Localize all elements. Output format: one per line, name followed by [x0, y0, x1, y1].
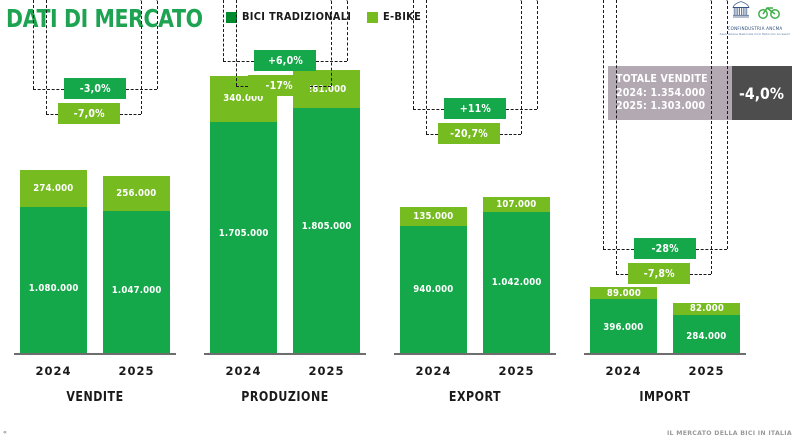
bar-import-2024[interactable]: 89.000396.000: [590, 287, 657, 353]
bar-value-ebike: 256.000: [116, 188, 156, 199]
connector-ebike-left-leg: [236, 0, 237, 86]
bar-value-ebike: 135.000: [413, 211, 453, 222]
category-label-vendite: VENDITE: [14, 390, 176, 405]
bar-segment-traditional[interactable]: 940.000: [400, 226, 467, 353]
year-label-2024: 2024: [590, 364, 657, 378]
delta-badge-ebike: -20,7%: [438, 123, 500, 144]
bar-value-traditional: 396.000: [603, 322, 643, 333]
connector-ebike-right-h: [500, 134, 521, 135]
footer-mark: «: [3, 429, 7, 436]
chart-group-export: 20242025135.000940.000107.0001.042.000+1…: [380, 0, 570, 410]
axis-baseline: [14, 353, 176, 355]
connector-total-left-leg: [413, 0, 414, 109]
bar-segment-traditional[interactable]: 1.047.000: [103, 211, 170, 353]
bar-vendite-2024[interactable]: 274.0001.080.000: [20, 170, 87, 353]
bar-produzione-2024[interactable]: 340.0001.705.000: [210, 76, 277, 353]
axis-baseline: [584, 353, 746, 355]
year-label-2025: 2025: [103, 364, 170, 378]
bar-segment-traditional[interactable]: 284.000: [673, 315, 740, 353]
connector-ebike-left-leg: [426, 0, 427, 134]
delta-badge-ebike-value: -17%: [265, 80, 292, 92]
year-label-2024: 2024: [210, 364, 277, 378]
connector-ebike-left-leg: [616, 0, 617, 274]
connector-ebike-right-arrow: [518, 0, 524, 1]
year-label-2024: 2024: [20, 364, 87, 378]
plot-area: 135.000940.000107.0001.042.000: [380, 0, 570, 355]
connector-total-left-h: [603, 249, 634, 250]
chart-group-produzione: 20242025340.0001.705.000281.0001.805.000…: [190, 0, 380, 410]
bar-value-traditional: 1.047.000: [112, 285, 162, 296]
bar-segment-ebike[interactable]: 107.000: [483, 197, 550, 211]
connector-total-left-leg: [603, 0, 604, 249]
bar-segment-traditional[interactable]: 1.080.000: [20, 207, 87, 353]
connector-total-right-leg: [537, 1, 538, 109]
connector-ebike-right-h: [310, 86, 331, 87]
connector-total-right-leg: [347, 1, 348, 61]
bar-export-2025[interactable]: 107.0001.042.000: [483, 197, 550, 353]
chart-group-vendite: 20242025274.0001.080.000256.0001.047.000…: [0, 0, 190, 410]
delta-badge-ebike: -7,0%: [58, 103, 120, 124]
bar-value-traditional: 284.000: [686, 331, 726, 342]
delta-badge-ebike: -17%: [248, 75, 310, 96]
connector-ebike-left-h: [46, 114, 58, 115]
connector-total-right-arrow: [534, 0, 540, 1]
year-label-2024: 2024: [400, 364, 467, 378]
bar-segment-traditional[interactable]: 1.805.000: [293, 108, 360, 353]
connector-ebike-right-leg: [141, 1, 142, 114]
bar-value-traditional: 1.080.000: [29, 283, 79, 294]
delta-badge-ebike-value: -7,8%: [643, 268, 674, 280]
connector-total-left-leg: [223, 0, 224, 61]
bar-value-traditional: 1.705.000: [219, 228, 269, 239]
category-label-produzione: PRODUZIONE: [204, 390, 366, 405]
delta-badge-total: -28%: [634, 238, 696, 259]
delta-badge-total: +11%: [444, 98, 506, 119]
bar-vendite-2025[interactable]: 256.0001.047.000: [103, 176, 170, 353]
bar-value-traditional: 940.000: [413, 284, 453, 295]
connector-total-right-arrow: [154, 0, 160, 1]
delta-badge-total: +6,0%: [254, 50, 316, 71]
connector-ebike-left-leg: [46, 0, 47, 114]
bar-value-ebike: 274.000: [33, 183, 73, 194]
ancma-bike-icon: [758, 4, 780, 25]
year-label-2025: 2025: [483, 364, 550, 378]
connector-ebike-left-h: [616, 274, 628, 275]
connector-ebike-right-h: [690, 274, 711, 275]
plot-area: 89.000396.00082.000284.000: [570, 0, 760, 355]
connector-total-left-h: [33, 89, 64, 90]
connector-total-right-arrow: [344, 0, 350, 1]
bar-import-2025[interactable]: 82.000284.000: [673, 303, 740, 353]
footer-note: IL MERCATO DELLA BICI IN ITALIA: [667, 430, 792, 437]
connector-ebike-left-h: [236, 86, 248, 87]
bar-produzione-2025[interactable]: 281.0001.805.000: [293, 70, 360, 353]
connector-total-right-arrow: [724, 0, 730, 1]
delta-badge-total-value: -28%: [651, 243, 678, 255]
connector-ebike-right-h: [120, 114, 141, 115]
bar-segment-ebike[interactable]: 274.000: [20, 170, 87, 207]
delta-badge-ebike: -7,8%: [628, 263, 690, 284]
delta-badge-total-value: +6,0%: [267, 55, 302, 67]
bar-value-traditional: 1.042.000: [492, 277, 542, 288]
year-label-2025: 2025: [293, 364, 360, 378]
axis-baseline: [394, 353, 556, 355]
plot-area: 274.0001.080.000256.0001.047.000: [0, 0, 190, 355]
connector-ebike-right-arrow: [328, 0, 334, 1]
connector-total-right-leg: [157, 1, 158, 89]
connector-total-left-h: [413, 109, 444, 110]
bar-value-ebike: 82.000: [689, 303, 723, 314]
bar-value-ebike: 89.000: [606, 288, 640, 299]
bar-value-ebike: 107.000: [496, 199, 536, 210]
bar-segment-ebike[interactable]: 135.000: [400, 207, 467, 225]
connector-total-left-leg: [33, 0, 34, 89]
bar-segment-traditional[interactable]: 1.042.000: [483, 212, 550, 353]
axis-baseline: [204, 353, 366, 355]
connector-ebike-right-leg: [521, 1, 522, 134]
connector-total-right-leg: [727, 1, 728, 249]
delta-badge-total-value: +11%: [459, 103, 490, 115]
connector-ebike-right-arrow: [138, 0, 144, 1]
connector-ebike-right-leg: [331, 1, 332, 86]
bar-segment-ebike[interactable]: 256.000: [103, 176, 170, 211]
connector-total-left-h: [223, 61, 254, 62]
category-label-export: EXPORT: [394, 390, 556, 405]
category-label-import: IMPORT: [584, 390, 746, 405]
chart-group-import: 2024202589.000396.00082.000284.000-28%-7…: [570, 0, 760, 410]
bar-export-2024[interactable]: 135.000940.000: [400, 207, 467, 353]
year-label-2025: 2025: [673, 364, 740, 378]
connector-ebike-left-h: [426, 134, 438, 135]
delta-badge-total-value: -3,0%: [79, 83, 110, 95]
delta-badge-ebike-value: -20,7%: [450, 128, 488, 140]
bar-segment-ebike[interactable]: 89.000: [590, 287, 657, 299]
bar-value-traditional: 1.805.000: [302, 221, 352, 232]
bar-segment-ebike[interactable]: 82.000: [673, 303, 740, 314]
delta-badge-total: -3,0%: [64, 78, 126, 99]
bar-segment-traditional[interactable]: 396.000: [590, 299, 657, 353]
bar-segment-traditional[interactable]: 1.705.000: [210, 122, 277, 353]
connector-ebike-right-leg: [711, 1, 712, 274]
delta-badge-ebike-value: -7,0%: [73, 108, 104, 120]
connector-ebike-right-arrow: [708, 0, 714, 1]
